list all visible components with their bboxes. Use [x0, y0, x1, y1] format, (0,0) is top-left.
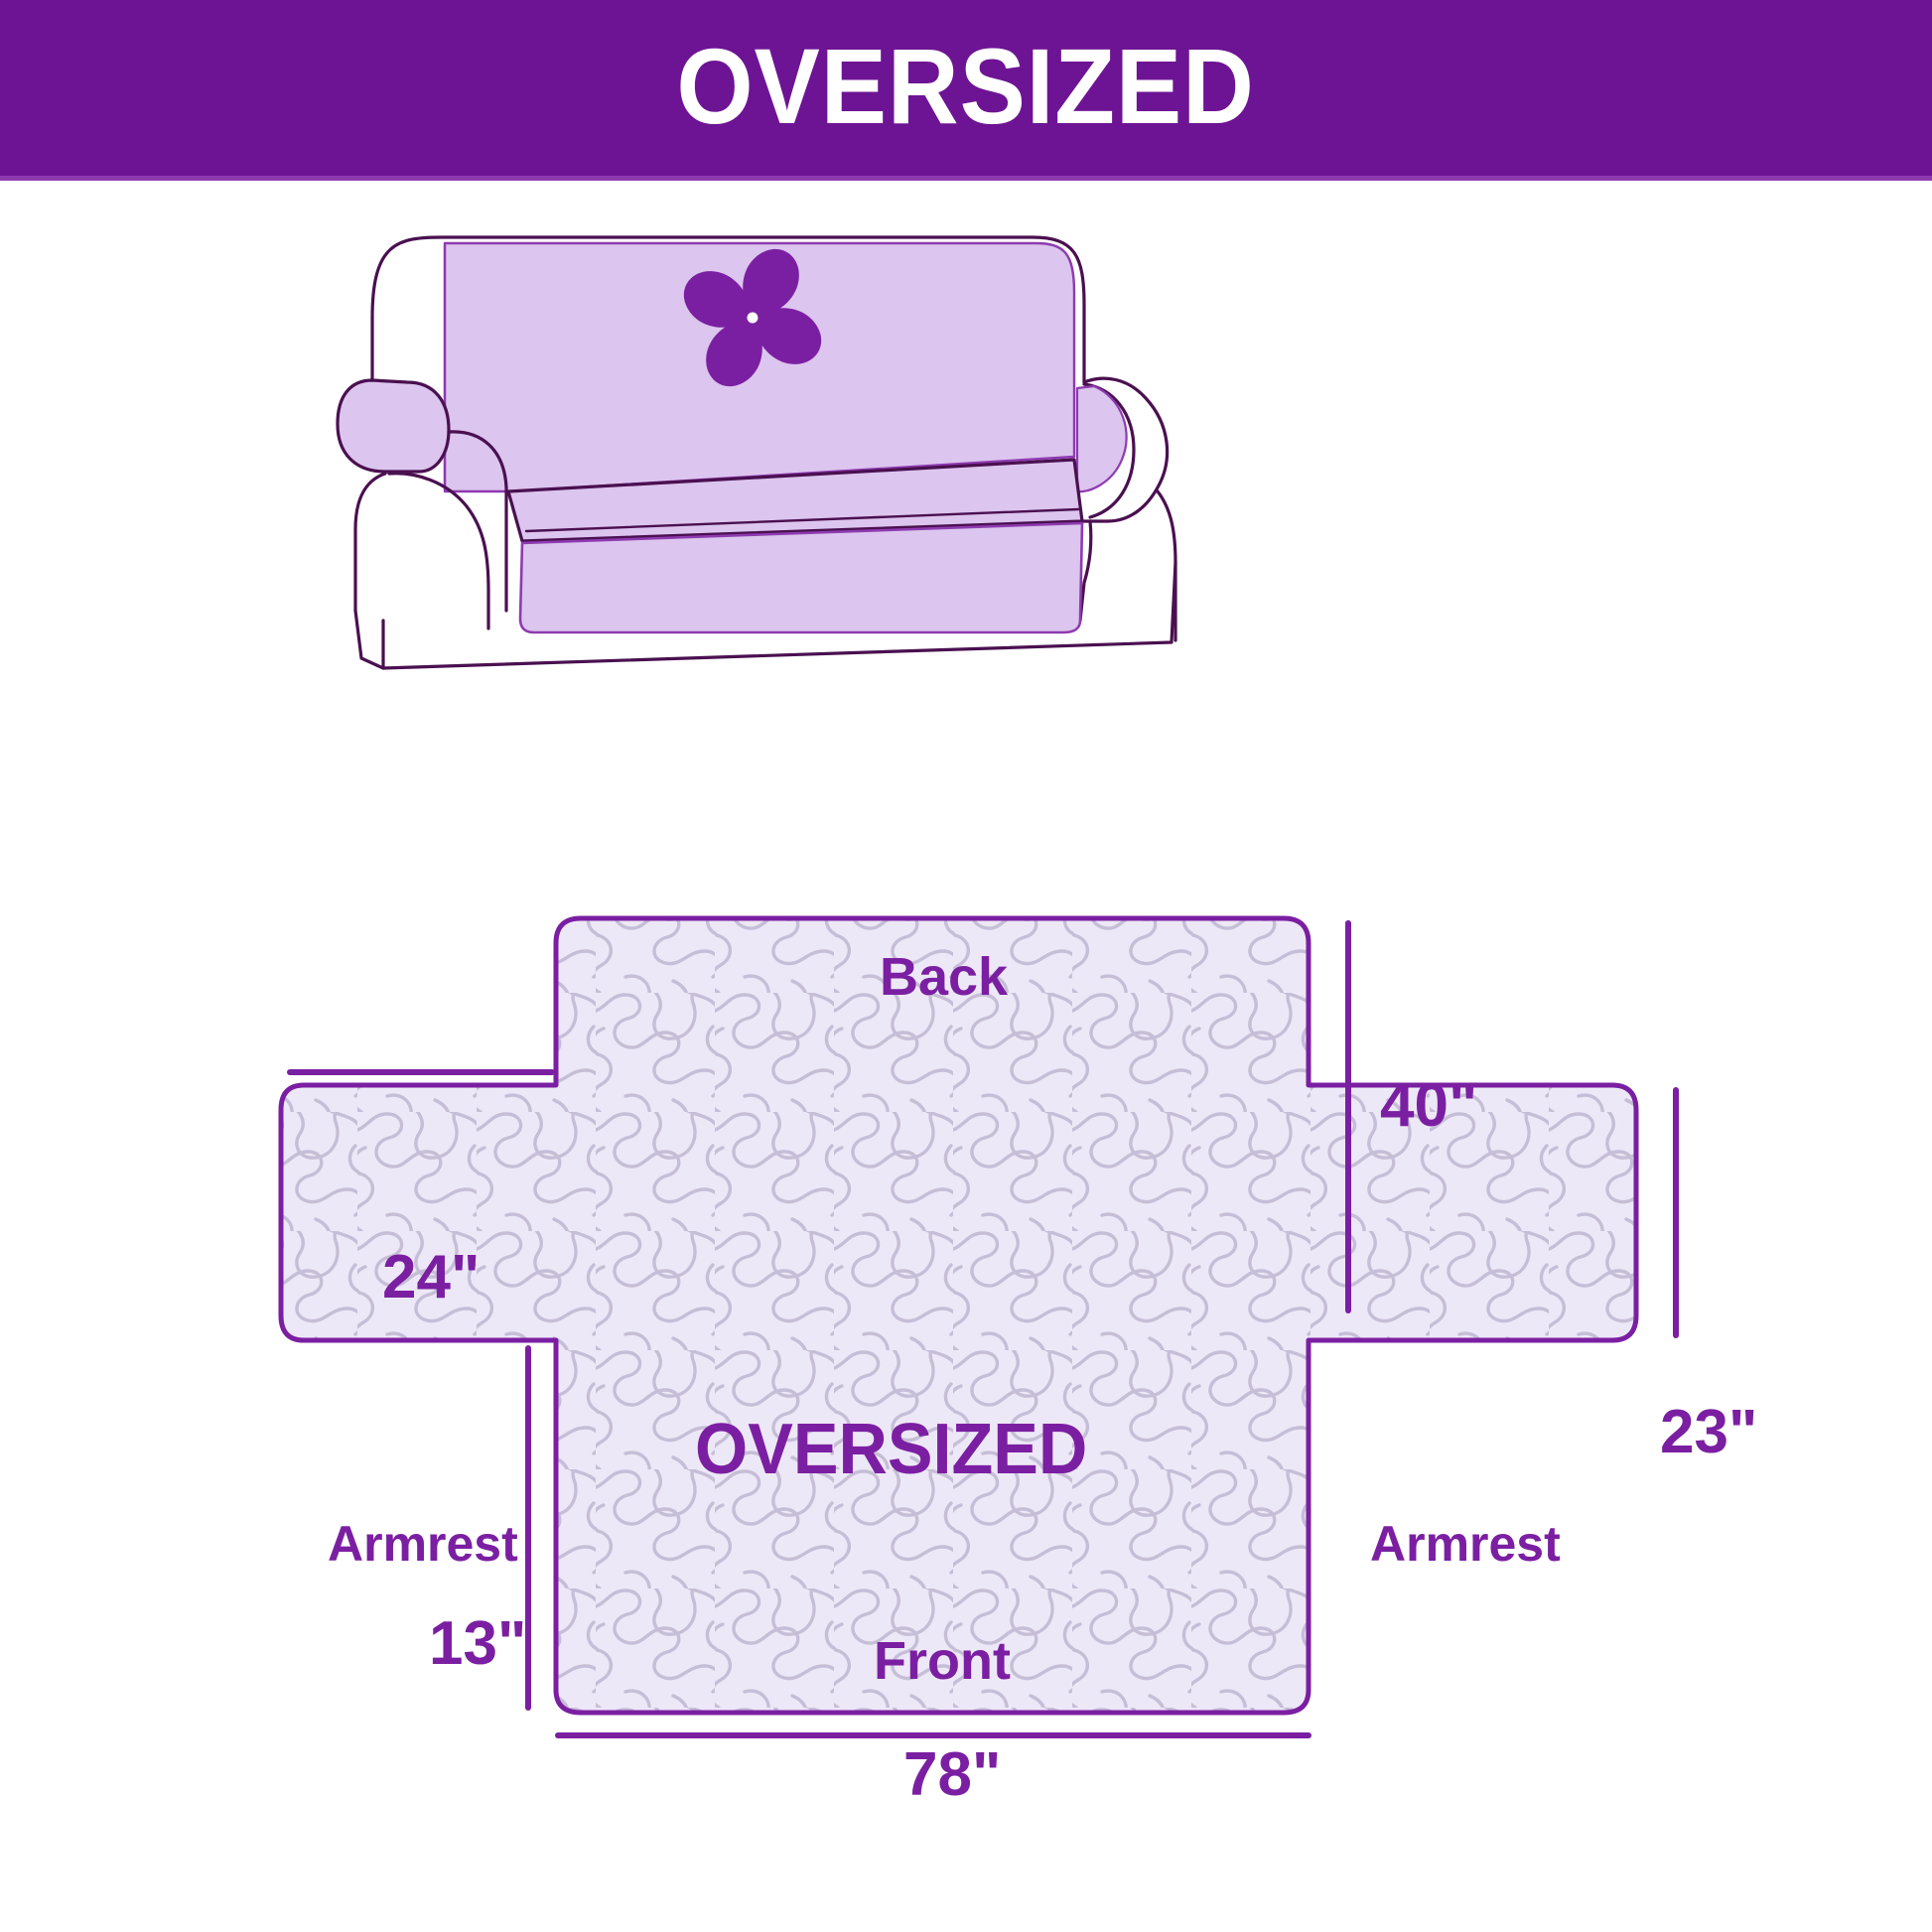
dimension-label-back-inset: 24"	[382, 1247, 480, 1309]
cover-flatlay-shape	[281, 918, 1636, 1713]
dimension-label-total-width: 78"	[903, 1744, 1001, 1806]
banner-underline	[0, 176, 1932, 181]
panel-label-armrest-left: Armrest	[328, 1519, 518, 1569]
dimension-label-back-height: 40"	[1380, 1075, 1477, 1137]
flatlay-diagram	[0, 874, 1932, 1876]
sofa-left-arm-front-edge	[355, 474, 385, 611]
sofa-left-arm-roll	[338, 380, 449, 472]
panel-label-front: Front	[874, 1634, 1011, 1688]
panel-label-back: Back	[880, 950, 1008, 1004]
sofa-illustration	[328, 194, 1301, 680]
flatlay-center-label: OVERSIZED	[695, 1414, 1087, 1485]
sofa-left-arm-panel	[389, 474, 488, 628]
dimension-label-front-drop: 13"	[429, 1613, 526, 1675]
pinwheel-center-dot	[748, 313, 759, 324]
sofa-seat-front-band	[520, 523, 1082, 632]
panel-label-armrest-right: Armrest	[1370, 1519, 1561, 1569]
header-banner: OVERSIZED	[0, 0, 1932, 181]
dimension-label-armrest-height: 23"	[1660, 1402, 1757, 1463]
page-title: OVERSIZED	[677, 33, 1255, 140]
